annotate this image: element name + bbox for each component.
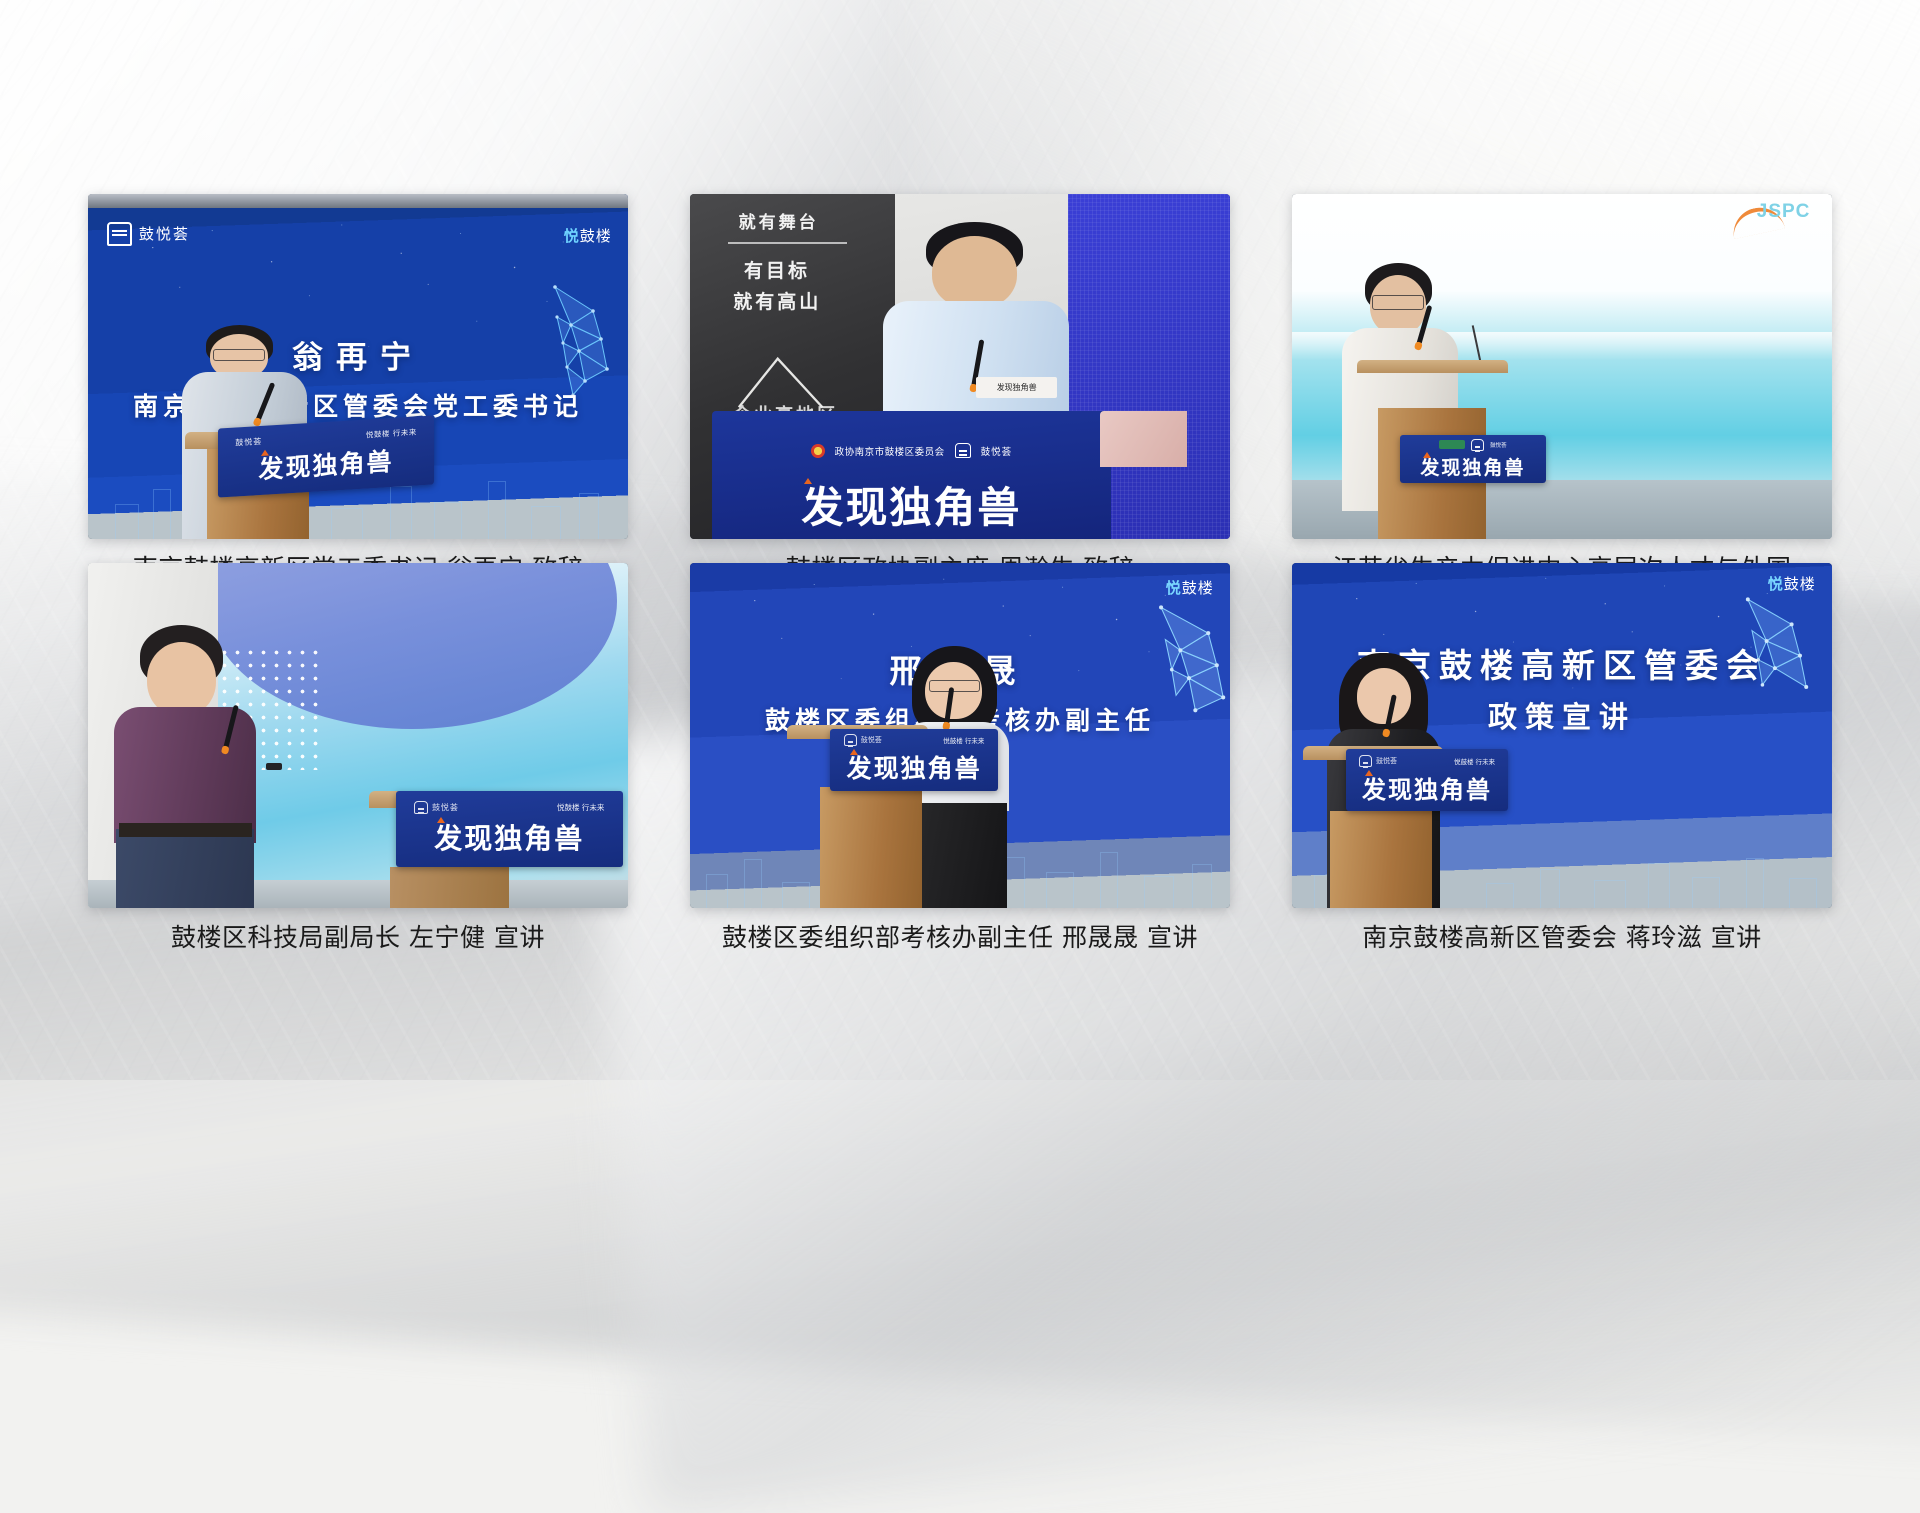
- gallery-item-6[interactable]: 悦鼓楼 南京鼓楼高新区管委会 政策宣讲: [1292, 563, 1832, 908]
- podium-sign-1: 鼓悦荟 悦鼓楼 行未来 发现独角兽: [218, 415, 434, 497]
- caption-5: 鼓楼区委组织部考核办副主任 邢晟晟 宣讲: [680, 921, 1240, 954]
- podium-body: [1330, 811, 1433, 908]
- screen-speaker-name: 翁再宁: [88, 332, 628, 377]
- guyuehui-mark-icon: [844, 734, 857, 746]
- guyuehui-label: 鼓悦荟: [139, 223, 190, 244]
- photo-gallery-grid: 鼓悦荟 悦鼓楼: [0, 0, 1920, 1080]
- podium-sign-5: 鼓悦荟 悦鼓楼 行未来 发现独角兽: [830, 729, 997, 791]
- photo-5[interactable]: 悦鼓楼 邢晟晟 鼓: [690, 563, 1230, 908]
- photo-5-scene: 悦鼓楼 邢晟晟 鼓: [690, 563, 1230, 908]
- screen-speaker-title: 南京鼓楼高新区管委会党工委书记: [88, 387, 628, 423]
- gallery-item-4[interactable]: 鼓悦荟 悦鼓楼 行未来 发现独角兽 鼓楼区科技局副局长 左宁健 宣讲: [88, 563, 628, 908]
- guyuehui-mark-icon: [107, 222, 132, 246]
- podium-sign-6: 鼓悦荟 悦鼓楼 行未来 发现独角兽: [1346, 749, 1508, 811]
- brand-logo-yuegulou: 悦鼓楼: [1166, 577, 1214, 598]
- podium-sign-4: 鼓悦荟 悦鼓楼 行未来 发现独角兽: [396, 791, 623, 867]
- gallery-item-2[interactable]: 就有舞台 有目标 就有高山 企业高地区 发现独角兽: [690, 194, 1230, 539]
- podium-title-label: 发现独角兽: [847, 749, 982, 785]
- podium-slogan-label: 悦鼓楼 行未来: [365, 426, 416, 440]
- jspc-logo-label: JSPC: [1757, 201, 1811, 223]
- photo-2[interactable]: 就有舞台 有目标 就有高山 企业高地区 发现独角兽: [690, 194, 1230, 539]
- photo-6[interactable]: 悦鼓楼 南京鼓楼高新区管委会 政策宣讲: [1292, 563, 1832, 908]
- podium-body: [820, 787, 923, 908]
- cppcc-emblem-icon: [811, 444, 825, 458]
- photo-3-scene: JSPC 省人才与创新资源对接 江苏省生产力促进中心 2022年 5 月: [1292, 194, 1832, 539]
- speaker-figure: [126, 625, 245, 908]
- podium-sign-2: 政协南京市鼓楼区委员会 鼓悦荟 发现独角兽: [712, 411, 1112, 539]
- podium-org-label: 鼓悦荟: [1490, 441, 1507, 449]
- podium-side: [1100, 411, 1186, 466]
- gallery-item-1[interactable]: 鼓悦荟 悦鼓楼: [88, 194, 628, 539]
- brand-logo-guyuehui: 鼓悦荟: [107, 222, 190, 246]
- podium-slogan-label: 悦鼓楼 行未来: [1454, 756, 1495, 766]
- podium-org-label: 鼓悦荟: [235, 435, 262, 448]
- wall-text-line-2: 有目标: [744, 256, 810, 283]
- photo-3[interactable]: JSPC 省人才与创新资源对接 江苏省生产力促进中心 2022年 5 月: [1292, 194, 1832, 539]
- podium-org-label: 鼓悦荟: [844, 734, 882, 746]
- photo-1[interactable]: 鼓悦荟 悦鼓楼: [88, 194, 628, 539]
- podium-sign-3: 鼓悦荟 发现独角兽: [1400, 435, 1546, 483]
- podium-top: [1357, 360, 1508, 374]
- podium-slogan-label: 悦鼓楼 行未来: [557, 802, 604, 813]
- clicker-remote-icon: [266, 763, 282, 770]
- podium-org2-label: 鼓悦荟: [981, 444, 1013, 458]
- photo-1-scene: 鼓悦荟 悦鼓楼: [88, 194, 628, 539]
- wall-text-line-1: 就有舞台: [739, 208, 819, 233]
- podium-title-label: 发现独角兽: [1362, 770, 1492, 805]
- caption-6: 南京鼓楼高新区管委会 蒋玲滋 宣讲: [1282, 921, 1842, 954]
- podium-title-label: 发现独角兽: [1420, 453, 1525, 480]
- podium-title-label: 发现独角兽: [712, 474, 1112, 535]
- guyuehui-mark-icon: [955, 443, 971, 458]
- guyuehui-mark-icon: [414, 801, 428, 814]
- podium-slogan-label: 悦鼓楼 行未来: [943, 735, 984, 745]
- podium-title-label: 发现独角兽: [434, 817, 584, 857]
- gallery-item-3[interactable]: JSPC 省人才与创新资源对接 江苏省生产力促进中心 2022年 5 月: [1292, 194, 1832, 539]
- trousers: [116, 829, 254, 908]
- name-card: 发现独角兽: [976, 377, 1057, 398]
- photo-4-scene: 鼓悦荟 悦鼓楼 行未来 发现独角兽: [88, 563, 628, 908]
- podium-org-label: 鼓悦荟: [414, 801, 459, 814]
- brand-logo-yuegulou: 悦鼓楼: [564, 225, 612, 246]
- ceiling-rail: [88, 194, 628, 208]
- belt: [119, 823, 252, 837]
- podium-org-label: 政协南京市鼓楼区委员会: [835, 444, 945, 458]
- caption-4: 鼓楼区科技局副局长 左宁健 宣讲: [78, 921, 638, 954]
- podium-body: [390, 867, 509, 908]
- guyuehui-mark-icon: [1359, 755, 1372, 767]
- podium-title-label: 发现独角兽: [258, 441, 393, 485]
- gallery-item-5[interactable]: 悦鼓楼 邢晟晟 鼓: [690, 563, 1230, 908]
- photo-2-scene: 就有舞台 有目标 就有高山 企业高地区 发现独角兽: [690, 194, 1230, 539]
- guyuehui-mark-icon: [1471, 439, 1484, 451]
- partner-logo-icon: [1439, 440, 1465, 449]
- podium-org-label: 鼓悦荟: [1359, 755, 1397, 767]
- wall-text-line-3: 就有高山: [733, 287, 821, 314]
- photo-6-scene: 悦鼓楼 南京鼓楼高新区管委会 政策宣讲: [1292, 563, 1832, 908]
- photo-4[interactable]: 鼓悦荟 悦鼓楼 行未来 发现独角兽: [88, 563, 628, 908]
- wall-divider: [728, 242, 847, 244]
